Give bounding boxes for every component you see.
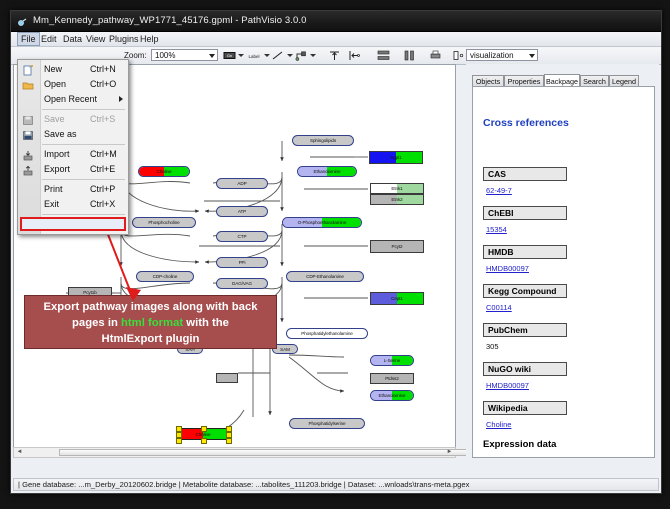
stack-vertical-icon[interactable] <box>403 49 416 62</box>
db-label-chebi: ChEBI <box>483 206 567 220</box>
stack-horizontal-icon[interactable] <box>377 49 390 62</box>
db-label-wikipedia: Wikipedia <box>483 401 567 415</box>
statusbar: | Gene database: ...m_Derby_20120602.bri… <box>13 478 659 491</box>
file-menu-item-open-recent[interactable]: Open Recent <box>18 92 128 107</box>
pathvisio-icon <box>17 15 28 26</box>
zoom-value: 100% <box>155 51 175 60</box>
file-menu-label: Import <box>44 147 70 162</box>
db-label-nugo-wiki: NuGO wiki <box>483 362 567 376</box>
interaction-icon[interactable] <box>294 49 307 62</box>
svg-text:Label: Label <box>248 54 259 59</box>
selection-handle[interactable] <box>226 426 232 432</box>
gene-product-dropdown-icon[interactable] <box>238 54 244 57</box>
menubar: File Edit Data View Plugins Help <box>11 32 661 47</box>
file-menu-item-new[interactable]: NewCtrl+N <box>18 62 128 77</box>
align-top-icon[interactable] <box>328 49 341 62</box>
file-menu-item-batch-export[interactable]: Batch Export <box>18 217 128 232</box>
label-icon[interactable]: Label <box>245 49 263 62</box>
batch-export-highlight <box>20 217 126 231</box>
statusbar-text: | Gene database: ...m_Derby_20120602.bri… <box>18 480 469 489</box>
selection-handle[interactable] <box>176 438 182 444</box>
file-menu-separator <box>42 214 125 215</box>
sidebar: Objects Properties Backpage Search Legen… <box>466 64 659 471</box>
file-menu-accelerator: Ctrl+E <box>90 162 115 177</box>
db-label-kegg-compound: Kegg Compound <box>483 284 567 298</box>
file-menu-accelerator: Ctrl+O <box>90 77 116 92</box>
file-menu-separator <box>42 144 125 145</box>
file-menu-label: Save <box>44 112 65 127</box>
gene-product-icon[interactable]: Gn <box>223 49 236 62</box>
file-menu-item-import[interactable]: ImportCtrl+M <box>18 147 128 162</box>
svg-text:Gn: Gn <box>227 53 232 58</box>
file-menu-accelerator: Ctrl+X <box>90 197 115 212</box>
new-file-icon <box>22 64 34 75</box>
backpage-panel: Cross references CAS 62-49-7 ChEBI 15354… <box>472 86 655 458</box>
line-icon[interactable] <box>271 49 284 62</box>
file-menu-separator <box>42 109 125 110</box>
menu-help[interactable]: Help <box>137 33 162 45</box>
selection-handle[interactable] <box>201 426 207 432</box>
screenshot-root: Mm_Kennedy_pathway_WP1771_45176.gpml - P… <box>0 0 670 509</box>
interaction-dropdown-icon[interactable] <box>310 54 316 57</box>
selection-handle[interactable] <box>226 438 232 444</box>
db-label-hmdb: HMDB <box>483 245 567 259</box>
file-menu-item-save: SaveCtrl+S <box>18 112 128 127</box>
selection-handle[interactable] <box>226 432 232 438</box>
file-menu-items: NewCtrl+NOpenCtrl+OOpen RecentSaveCtrl+S… <box>18 62 128 232</box>
align-left-icon[interactable] <box>347 49 360 62</box>
file-menu-item-open[interactable]: OpenCtrl+O <box>18 77 128 92</box>
menu-edit[interactable]: Edit <box>38 33 60 45</box>
file-menu-label: Open <box>44 77 66 92</box>
db-value-hmdb[interactable]: HMDB00097 <box>486 264 529 273</box>
menu-data[interactable]: Data <box>60 33 85 45</box>
print-icon[interactable] <box>429 49 442 62</box>
file-menu-label: Open Recent <box>44 92 97 107</box>
zoom-combobox[interactable]: 100% <box>151 49 218 61</box>
db-value-chebi[interactable]: 15354 <box>486 225 507 234</box>
db-label-pubchem: PubChem <box>483 323 567 337</box>
pathvisio-window: Mm_Kennedy_pathway_WP1771_45176.gpml - P… <box>10 10 662 494</box>
line-dropdown-icon[interactable] <box>287 54 293 57</box>
file-menu-label: Print <box>44 182 63 197</box>
save-icon <box>22 114 34 125</box>
copy-icon[interactable] <box>452 49 465 62</box>
file-menu-item-exit[interactable]: ExitCtrl+X <box>18 197 128 212</box>
export-icon <box>22 164 34 175</box>
visualization-value: visualization <box>470 51 514 60</box>
import-icon <box>22 149 34 160</box>
file-menu-label: Exit <box>44 197 59 212</box>
visualization-combobox[interactable]: visualization <box>466 49 538 61</box>
file-menu-accelerator: Ctrl+M <box>90 147 117 162</box>
save-as-icon <box>22 129 34 140</box>
menu-file[interactable]: File <box>17 32 40 46</box>
file-menu-item-save-as[interactable]: Save as <box>18 127 128 142</box>
db-value-kegg[interactable]: C00114 <box>486 303 512 312</box>
cross-references-heading: Cross references <box>483 117 569 129</box>
open-folder-icon <box>22 79 34 90</box>
chevron-down-icon <box>529 54 535 58</box>
file-menu-accelerator: Ctrl+S <box>90 112 115 127</box>
db-value-wikipedia[interactable]: Choline <box>486 420 511 429</box>
file-menu-accelerator: Ctrl+N <box>90 62 116 77</box>
db-label-cas: CAS <box>483 167 567 181</box>
file-menu-label: Export <box>44 162 70 177</box>
window-titlebar: Mm_Kennedy_pathway_WP1771_45176.gpml - P… <box>11 11 661 32</box>
file-menu-accelerator: Ctrl+P <box>90 182 115 197</box>
file-menu-separator <box>42 179 125 180</box>
expression-data-heading: Expression data <box>483 439 556 450</box>
file-menu-label: Save as <box>44 127 77 142</box>
submenu-arrow-icon <box>119 96 123 102</box>
file-menu-item-export[interactable]: ExportCtrl+E <box>18 162 128 177</box>
db-value-cas[interactable]: 62-49-7 <box>486 186 512 195</box>
chevron-down-icon <box>209 54 215 58</box>
db-value-nugo[interactable]: HMDB00097 <box>486 381 529 390</box>
db-value-pubchem: 305 <box>486 342 499 351</box>
window-title: Mm_Kennedy_pathway_WP1771_45176.gpml - P… <box>33 15 307 26</box>
file-menu-item-print[interactable]: PrintCtrl+P <box>18 182 128 197</box>
selection-handle[interactable] <box>201 438 207 444</box>
selection-handle[interactable] <box>176 426 182 432</box>
menu-view[interactable]: View <box>83 33 108 45</box>
file-menu-label: New <box>44 62 62 77</box>
label-dropdown-icon[interactable] <box>264 54 270 57</box>
selection-handle[interactable] <box>176 432 182 438</box>
file-menu-popup: NewCtrl+NOpenCtrl+OOpen RecentSaveCtrl+S… <box>17 59 129 235</box>
